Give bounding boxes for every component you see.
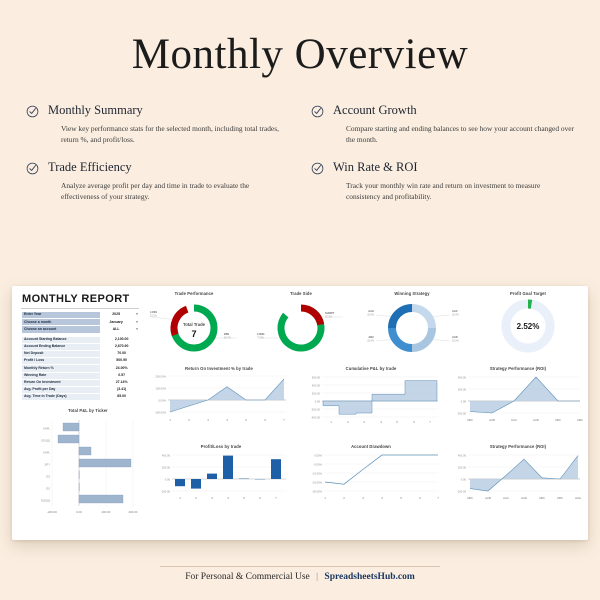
chart-title: Return On Investment % by trade (148, 366, 290, 371)
svg-text:6: 6 (413, 420, 415, 424)
svg-text:400.00: 400.00 (312, 384, 321, 388)
svg-text:ABC: ABC (467, 496, 473, 500)
feature-title: Account Growth (333, 103, 574, 118)
chart-title: Strategy Performance (ROI) (452, 444, 584, 449)
control-row-year: Enter Year 2025 ▾ (22, 312, 143, 319)
svg-text:1: 1 (324, 496, 326, 500)
svg-text:6: 6 (259, 496, 261, 500)
svg-text:1: 1 (179, 496, 181, 500)
chevron-down-icon[interactable]: ▾ (132, 326, 143, 333)
control-label: Choose an account (22, 326, 101, 333)
gauge-value: 2.52% (517, 322, 540, 331)
control-label: Enter Year (22, 312, 101, 319)
chart-title: Winning Strategy (360, 291, 464, 296)
svg-text:4: 4 (226, 418, 228, 422)
slice-label-long: LONG (257, 332, 265, 336)
feature-item-trade-efficiency: Trade Efficiency Analyze average profit … (26, 160, 289, 203)
control-row-account: Choose an account ALL ▾ (22, 326, 143, 333)
stat-row: Profit / Loss500.90 (22, 358, 143, 365)
svg-text:-10.00%: -10.00% (312, 472, 323, 476)
slice-label-aac: AAC (452, 309, 458, 313)
chart-title: Profit/Loss by trade (152, 444, 290, 449)
chart-title: Strategy Performance (ROI) (452, 366, 584, 371)
feature-title: Monthly Summary (48, 103, 289, 118)
svg-text:-200.00: -200.00 (311, 408, 321, 412)
slice-value-long: 77.8% (257, 337, 265, 340)
promo-page: Monthly Overview Monthly Summary View ke… (0, 0, 600, 600)
slice-value-loss: 22.2% (150, 315, 158, 318)
chart-strategy-performance-top: Strategy Performance (ROI) 400.00 200.00… (452, 366, 584, 428)
svg-text:4: 4 (380, 420, 382, 424)
report-title: MONTHLY REPORT (22, 293, 130, 305)
feature-title: Win Rate & ROI (333, 160, 574, 175)
svg-text:1: 1 (169, 418, 171, 422)
svg-text:-200.00: -200.00 (457, 412, 467, 416)
stat-row: Account Ending Balance2,670.90 (22, 343, 143, 350)
slice-label-abc: ABC (368, 335, 374, 339)
chart-title: Cumulative P&L by trade (300, 366, 442, 371)
chart-account-drawdown: Account Drawdown 0.00% -5.00% -10.00% -1 (300, 444, 442, 504)
chart-trade-side: Trade Side LONG 77.8% SHORT 22.2% (255, 291, 347, 359)
chart-title: Profit Goal Target (478, 291, 578, 296)
donut-center-label: Total Trade (183, 322, 206, 327)
title-divider (21, 308, 139, 309)
feature-item-monthly-summary: Monthly Summary View key performance sta… (26, 103, 289, 146)
svg-text:7: 7 (275, 496, 277, 500)
svg-text:ES: ES (46, 487, 50, 491)
chart-title: Trade Performance (148, 291, 240, 296)
chart-title: Trade Side (255, 291, 347, 296)
feature-description: Track your monthly win rate and return o… (333, 180, 574, 203)
stat-row: Account Starting Balance2,100.00 (22, 336, 143, 343)
svg-text:400.00: 400.00 (458, 376, 467, 380)
slice-label-loss: LOSS (150, 310, 157, 314)
slice-value-short: 22.2% (325, 316, 333, 319)
svg-text:7: 7 (429, 420, 431, 424)
footer-separator: | (316, 572, 318, 582)
chart-trade-performance: Trade Performance LOSS 22.2% WIN 66.7% T… (148, 291, 240, 359)
feature-item-win-rate-roi: Win Rate & ROI Track your monthly win ra… (311, 160, 574, 203)
svg-text:2: 2 (343, 496, 345, 500)
svg-text:3: 3 (207, 418, 209, 422)
svg-text:AAPL: AAPL (43, 451, 50, 455)
feature-description: Compare starting and ending balances to … (333, 123, 574, 146)
svg-text:5: 5 (396, 420, 398, 424)
chevron-down-icon[interactable]: ▾ (132, 319, 143, 326)
footer-divider (160, 566, 440, 567)
svg-text:0.00: 0.00 (76, 510, 82, 514)
svg-text:400.00: 400.00 (458, 454, 467, 458)
stat-row: Avg. Time in Trade (Days)85.00 (22, 394, 143, 401)
svg-text:200.00: 200.00 (458, 388, 467, 392)
svg-text:5: 5 (400, 496, 402, 500)
dashboard-screenshot: MONTHLY REPORT Enter Year 2025 ▾ Choose … (12, 286, 588, 540)
svg-text:3: 3 (211, 496, 213, 500)
svg-text:AAB: AAB (489, 418, 495, 422)
feature-description: Analyze average profit per day and time … (48, 180, 289, 203)
svg-text:200.00%: 200.00% (155, 375, 166, 379)
footer-text: For Personal & Commercial Use (185, 572, 310, 582)
feature-grid: Monthly Summary View key performance sta… (0, 79, 600, 203)
slice-value-aac: 25.0% (452, 314, 460, 317)
svg-text:400.00: 400.00 (162, 454, 171, 458)
svg-text:2: 2 (188, 418, 190, 422)
slice-label-short: SHORT (325, 311, 334, 315)
chart-profit-loss-by-trade: Profit/Loss by trade 400.00 200.00 0.00 … (152, 444, 290, 504)
svg-text:0.00: 0.00 (461, 478, 467, 482)
summary-table: Enter Year 2025 ▾ Choose a month January… (21, 311, 143, 401)
svg-text:400.00: 400.00 (129, 510, 138, 514)
stat-row: Avg. Profit per Day(3.41) (22, 386, 143, 393)
svg-text:-15.00%: -15.00% (312, 481, 323, 485)
svg-text:0.00%: 0.00% (158, 399, 166, 403)
svg-text:4: 4 (381, 496, 383, 500)
svg-text:ABC: ABC (577, 418, 583, 422)
svg-text:-200.00: -200.00 (457, 490, 467, 494)
svg-text:ABC: ABC (467, 418, 473, 422)
svg-text:-100.00%: -100.00% (154, 411, 166, 415)
check-circle-icon (26, 162, 39, 180)
chevron-down-icon[interactable]: ▾ (132, 312, 143, 319)
chart-profit-goal-target: Profit Goal Target 2.52% (478, 291, 578, 359)
page-title: Monthly Overview (0, 0, 600, 79)
svg-text:5: 5 (243, 496, 245, 500)
svg-text:3: 3 (363, 420, 365, 424)
footer-brand[interactable]: SpreadsheetsHub.com (324, 572, 414, 582)
svg-text:0.00: 0.00 (461, 400, 467, 404)
control-value[interactable]: ALL (101, 326, 132, 333)
svg-text:AAC: AAC (511, 418, 517, 422)
chart-title: Account Drawdown (300, 444, 442, 449)
svg-text:4: 4 (227, 496, 229, 500)
stat-row: Return On Investment27.14% (22, 379, 143, 386)
svg-text:ABC: ABC (555, 418, 561, 422)
svg-text:AAC: AAC (503, 496, 509, 500)
svg-text:100.00%: 100.00% (155, 387, 166, 391)
svg-text:-5.00%: -5.00% (313, 463, 322, 467)
svg-text:-200.00: -200.00 (47, 510, 57, 514)
chart-strategy-performance-bottom: Strategy Performance (ROI) 400.00 200.00… (452, 444, 584, 504)
slice-label-aag: AAG (368, 309, 374, 313)
svg-text:3: 3 (362, 496, 364, 500)
stat-row: Winning Rate0.57 (22, 372, 143, 379)
svg-text:0.00%: 0.00% (314, 454, 322, 458)
slice-value-win: 66.7% (224, 337, 232, 340)
control-row-month: Choose a month January ▾ (22, 319, 143, 326)
svg-text:AAD: AAD (521, 496, 527, 500)
svg-text:ABC: ABC (557, 496, 563, 500)
slice-value-aad: 25.0% (452, 340, 460, 343)
feature-item-account-growth: Account Growth Compare starting and endi… (311, 103, 574, 146)
svg-text:ES: ES (46, 475, 50, 479)
stat-row: Net Deposit70.00 (22, 350, 143, 357)
svg-text:2: 2 (195, 496, 197, 500)
svg-text:AAD: AAD (533, 418, 539, 422)
footer: For Personal & Commercial Use | Spreadsh… (0, 572, 600, 582)
svg-text:SPY: SPY (45, 463, 51, 467)
svg-text:0.00: 0.00 (165, 478, 171, 482)
slice-value-aag: 25.0% (367, 314, 375, 317)
chart-title: Total P&L by Ticker (28, 408, 148, 413)
svg-text:AAPL: AAPL (43, 427, 50, 431)
svg-text:7: 7 (437, 496, 439, 500)
stat-row: Monthly Return %24.00% (22, 365, 143, 372)
svg-text:AAB: AAB (485, 496, 491, 500)
feature-title: Trade Efficiency (48, 160, 289, 175)
control-value[interactable]: January (101, 319, 132, 326)
svg-text:-20.00%: -20.00% (312, 490, 323, 494)
svg-text:200.00: 200.00 (162, 466, 171, 470)
chart-roi-by-trade: Return On Investment % by trade 200.00% … (148, 366, 290, 428)
slice-label-win: WIN (224, 332, 229, 336)
slice-value-abc: 25.0% (367, 340, 375, 343)
chart-winning-strategy: Winning Strategy AAG 25.0% AAC 25.0% ABC… (360, 291, 464, 359)
svg-text:-400.00: -400.00 (311, 416, 321, 420)
svg-text:2: 2 (347, 420, 349, 424)
feature-description: View key performance stats for the selec… (48, 123, 289, 146)
svg-text:600.00: 600.00 (312, 376, 321, 380)
control-label: Choose a month (22, 319, 101, 326)
svg-text:200.00: 200.00 (312, 392, 321, 396)
svg-text:1: 1 (330, 420, 332, 424)
control-value[interactable]: 2025 (101, 312, 132, 319)
check-circle-icon (311, 105, 324, 123)
svg-text:ABC: ABC (539, 496, 545, 500)
svg-text:NQ/QQ: NQ/QQ (41, 499, 50, 503)
svg-text:200.00: 200.00 (458, 466, 467, 470)
check-circle-icon (26, 105, 39, 123)
chart-total-pl-by-ticker: Total P&L by Ticker (28, 408, 148, 526)
slice-label-aad: AAD (452, 335, 458, 339)
svg-text:6: 6 (264, 418, 266, 422)
svg-text:ES/QQ: ES/QQ (41, 439, 50, 443)
svg-text:200.00: 200.00 (102, 510, 111, 514)
svg-text:6: 6 (419, 496, 421, 500)
svg-text:AAG: AAG (575, 496, 582, 500)
check-circle-icon (311, 162, 324, 180)
svg-text:5: 5 (245, 418, 247, 422)
chart-cumulative-pl: Cumulative P&L by trade 600.00 400.00 2 (300, 366, 442, 428)
svg-text:0.00: 0.00 (315, 400, 321, 404)
svg-text:7: 7 (283, 418, 285, 422)
donut-center-value: 7 (191, 329, 196, 339)
svg-text:-200.00: -200.00 (161, 490, 171, 494)
